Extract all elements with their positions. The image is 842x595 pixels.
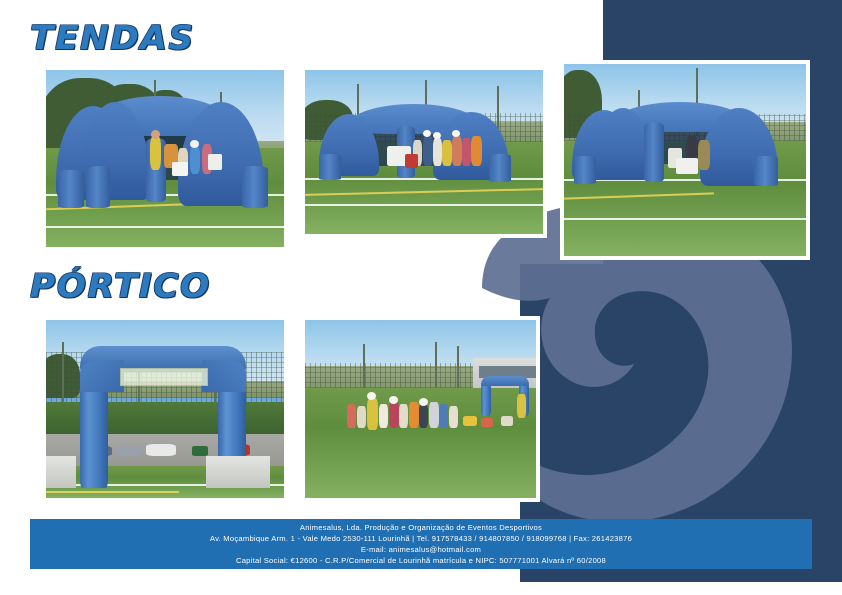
tent-photo-2-frame xyxy=(301,66,547,238)
footer-address-line: Av. Moçambique Arm. 1 - Vale Medo 2530-1… xyxy=(30,533,812,544)
arch-photo-2-frame xyxy=(301,316,540,502)
tent-photo-2 xyxy=(305,70,543,234)
tent-photo-1 xyxy=(46,70,284,247)
footer-email-line: E-mail: animesalus@hotmail.com xyxy=(30,544,812,555)
arch-photo-1 xyxy=(46,320,284,498)
footer-contact-block: Animesalus, Lda. Produção e Organização … xyxy=(30,519,812,569)
footer-company-line: Animesalus, Lda. Produção e Organização … xyxy=(30,522,812,533)
brochure-page: TENDAS xyxy=(0,0,842,595)
arch-photo-2 xyxy=(305,320,536,498)
tent-photo-3 xyxy=(564,64,806,256)
page-title-tendas: TENDAS xyxy=(30,18,195,57)
tent-photo-3-frame xyxy=(560,60,810,260)
arch-photo-1-frame xyxy=(42,316,288,502)
page-title-portico: PÓRTICO xyxy=(30,266,211,305)
footer-legal-line: Capital Social: €12600 - C.R.P/Comercial… xyxy=(30,555,812,566)
tent-photo-1-frame xyxy=(42,66,288,251)
